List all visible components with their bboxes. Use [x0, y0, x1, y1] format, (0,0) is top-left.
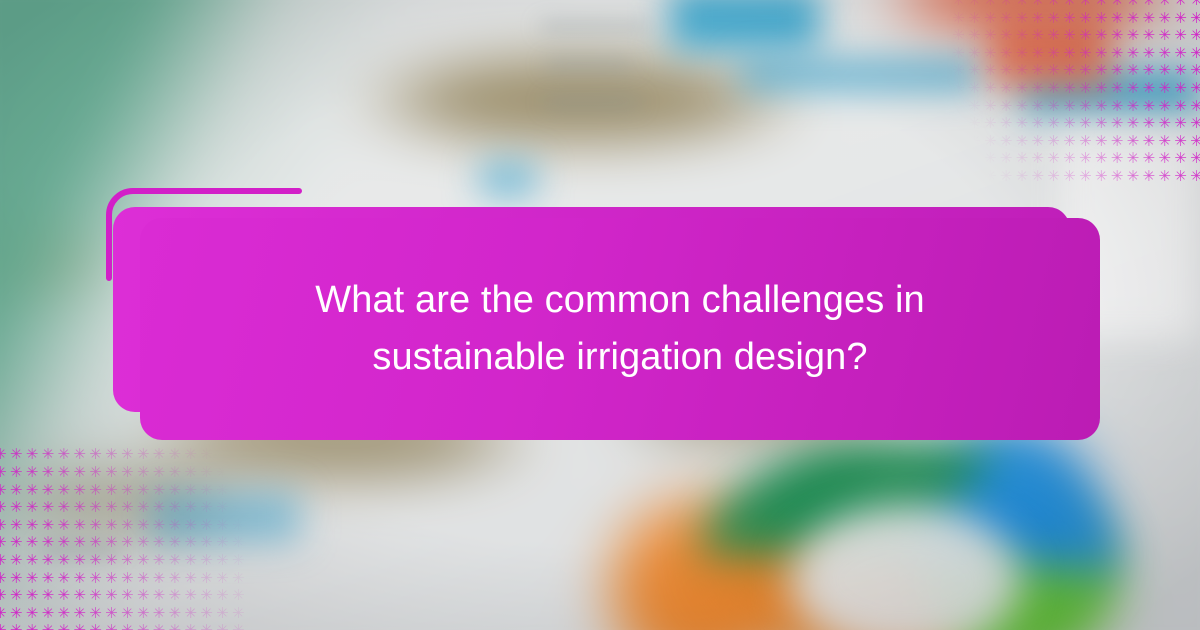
title-line-2: sustainable irrigation design? — [372, 336, 867, 378]
page-title: What are the common challenges in sustai… — [188, 272, 1052, 386]
question-card[interactable]: What are the common challenges in sustai… — [140, 218, 1100, 440]
og-card-canvas: ✳✳✳✳✳✳✳✳✳✳✳✳✳✳✳✳ ✳✳✳✳✳✳✳✳✳✳✳✳✳✳✳✳ ✳✳✳✳✳✳… — [0, 0, 1200, 630]
title-line-1: What are the common challenges in — [315, 279, 925, 321]
